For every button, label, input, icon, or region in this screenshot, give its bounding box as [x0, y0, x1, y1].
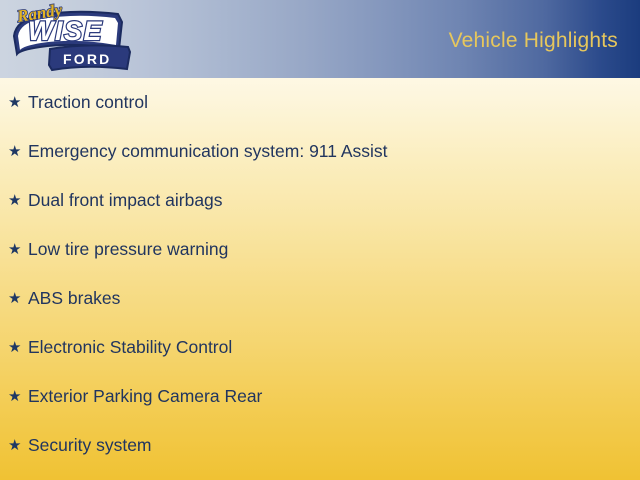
star-icon: ★ — [8, 340, 28, 355]
vehicle-highlights-list: ★ Traction control ★ Emergency communica… — [0, 78, 640, 470]
star-icon: ★ — [8, 95, 28, 110]
list-item-label: ABS brakes — [28, 288, 120, 308]
list-item: ★ Low tire pressure warning — [0, 225, 640, 274]
star-icon: ★ — [8, 144, 28, 159]
list-item: ★ Traction control — [0, 78, 640, 127]
star-icon: ★ — [8, 291, 28, 306]
logo-artwork: WISE FORD Randy — [6, 2, 136, 74]
list-item: ★ Dual front impact airbags — [0, 176, 640, 225]
list-item: ★ Exterior Parking Camera Rear — [0, 372, 640, 421]
vehicle-highlights-slide: WISE FORD Randy Vehicle Highlights ★ Tra… — [0, 0, 640, 480]
list-item: ★ Electronic Stability Control — [0, 323, 640, 372]
star-icon: ★ — [8, 438, 28, 453]
list-item-label: Electronic Stability Control — [28, 337, 232, 357]
list-item: ★ Security system — [0, 421, 640, 470]
page-title: Vehicle Highlights — [449, 29, 618, 53]
logo-ford-text: FORD — [63, 51, 111, 67]
star-icon: ★ — [8, 242, 28, 257]
list-item-label: Traction control — [28, 92, 148, 112]
list-item-label: Emergency communication system: 911 Assi… — [28, 141, 388, 161]
randy-wise-ford-logo: WISE FORD Randy — [6, 2, 136, 74]
list-item-label: Security system — [28, 435, 152, 455]
list-item-label: Exterior Parking Camera Rear — [28, 386, 262, 406]
star-icon: ★ — [8, 389, 28, 404]
list-item-label: Dual front impact airbags — [28, 190, 223, 210]
header-band: WISE FORD Randy Vehicle Highlights — [0, 0, 640, 78]
star-icon: ★ — [8, 193, 28, 208]
list-item-label: Low tire pressure warning — [28, 239, 228, 259]
list-item: ★ Emergency communication system: 911 As… — [0, 127, 640, 176]
list-item: ★ ABS brakes — [0, 274, 640, 323]
